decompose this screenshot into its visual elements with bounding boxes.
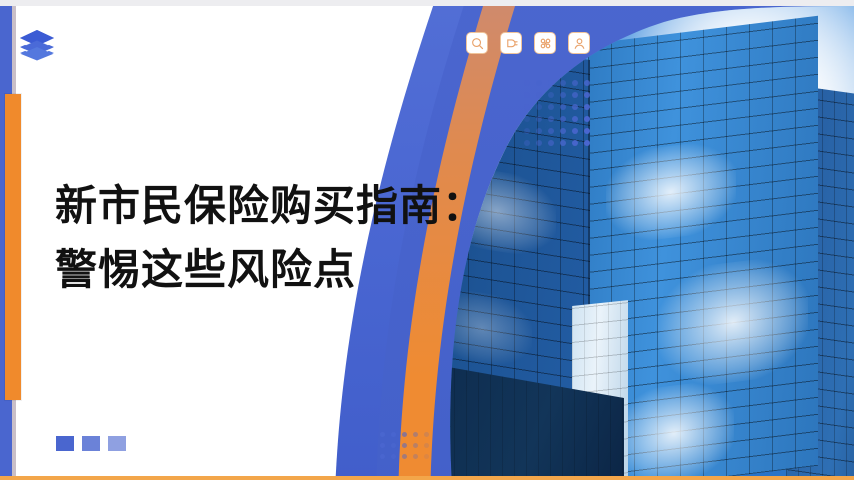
left-accent-bar-orange [5,94,21,400]
puzzle-icon[interactable] [534,32,556,54]
top-letterbox-band [0,0,854,6]
top-icon-toolbar[interactable] [466,32,590,54]
bottom-accent-rule [0,476,854,480]
slide-canvas: 新市民保险购买指南： 警惕这些风险点 [0,0,854,480]
title-line-1: 新市民保险购买指南： [55,174,525,238]
dot-grid-lower [380,432,435,465]
layers-stack-icon[interactable] [18,28,56,62]
search-icon[interactable] [466,32,488,54]
plug-icon[interactable] [500,32,522,54]
title-line-2: 警惕这些风险点 [55,238,525,302]
square-decoration-group [56,436,126,451]
slide-title: 新市民保险购买指南： 警惕这些风险点 [55,174,525,302]
slide-body: 新市民保险购买指南： 警惕这些风险点 [0,6,854,476]
dot-grid-upper [524,80,596,152]
user-icon[interactable] [568,32,590,54]
